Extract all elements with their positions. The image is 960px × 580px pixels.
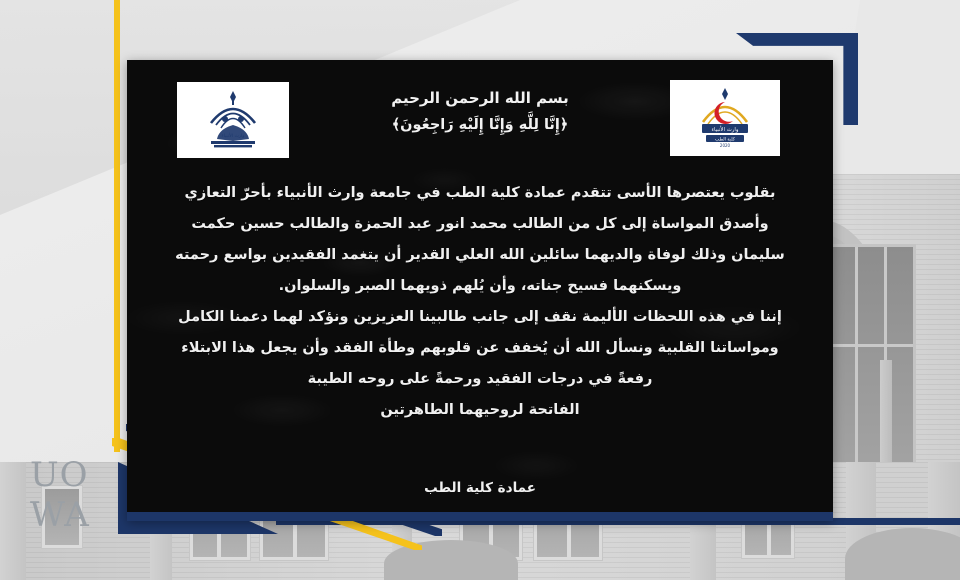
basmala-text: بسم الله الرحمن الرحيم (127, 88, 833, 110)
uowa-line1: UO (30, 455, 89, 495)
uowa-wordmark: UO WA (30, 452, 116, 536)
condolence-card: وارث الأنبياء وارث الأنبياء كلية الطب 20… (127, 60, 833, 521)
body-line: رفعةً في درجات الفقيد ورحمةً على روحه ال… (143, 364, 817, 395)
college-logo-year: 2020 (720, 143, 731, 148)
body-line: وأصدق المواساة إلى كل من الطالب محمد انو… (143, 209, 817, 240)
body-line: سليمان وذلك لوفاة والديهما سائلين الله ا… (143, 240, 817, 271)
uowa-line2: WA (30, 495, 90, 535)
condolence-body: بقلوب يعتصرها الأسى تتقدم عمادة كلية الط… (143, 178, 817, 426)
body-line: ومواساتنا القلبية ونسأل الله أن يُخفف عن… (143, 333, 817, 364)
card-header: بسم الله الرحمن الرحيم ﴿إِنَّا لِلَّهِ و… (127, 88, 833, 133)
body-line: الفاتحة لروحيهما الطاهرتين (143, 395, 817, 426)
svg-text:كلية الطب: كلية الطب (715, 136, 736, 142)
yellow-vertical-accent (114, 0, 120, 452)
body-line: ويسكنهما فسيح جناته، وأن يُلهم ذويهما ال… (143, 271, 817, 302)
body-line: بقلوب يعتصرها الأسى تتقدم عمادة كلية الط… (143, 178, 817, 209)
card-footer-bar (127, 512, 833, 521)
svg-text:وارث الأنبياء: وارث الأنبياء (221, 132, 244, 139)
body-line: إننا في هذه اللحظات الأليمة نقف إلى جانب… (143, 302, 817, 333)
quran-verse-text: ﴿إِنَّا لِلَّهِ وَإِنَّا إِلَيْهِ رَاجِع… (127, 117, 833, 133)
signature-text: عمادة كلية الطب (127, 480, 833, 496)
poster-canvas: UO WA (0, 0, 960, 580)
